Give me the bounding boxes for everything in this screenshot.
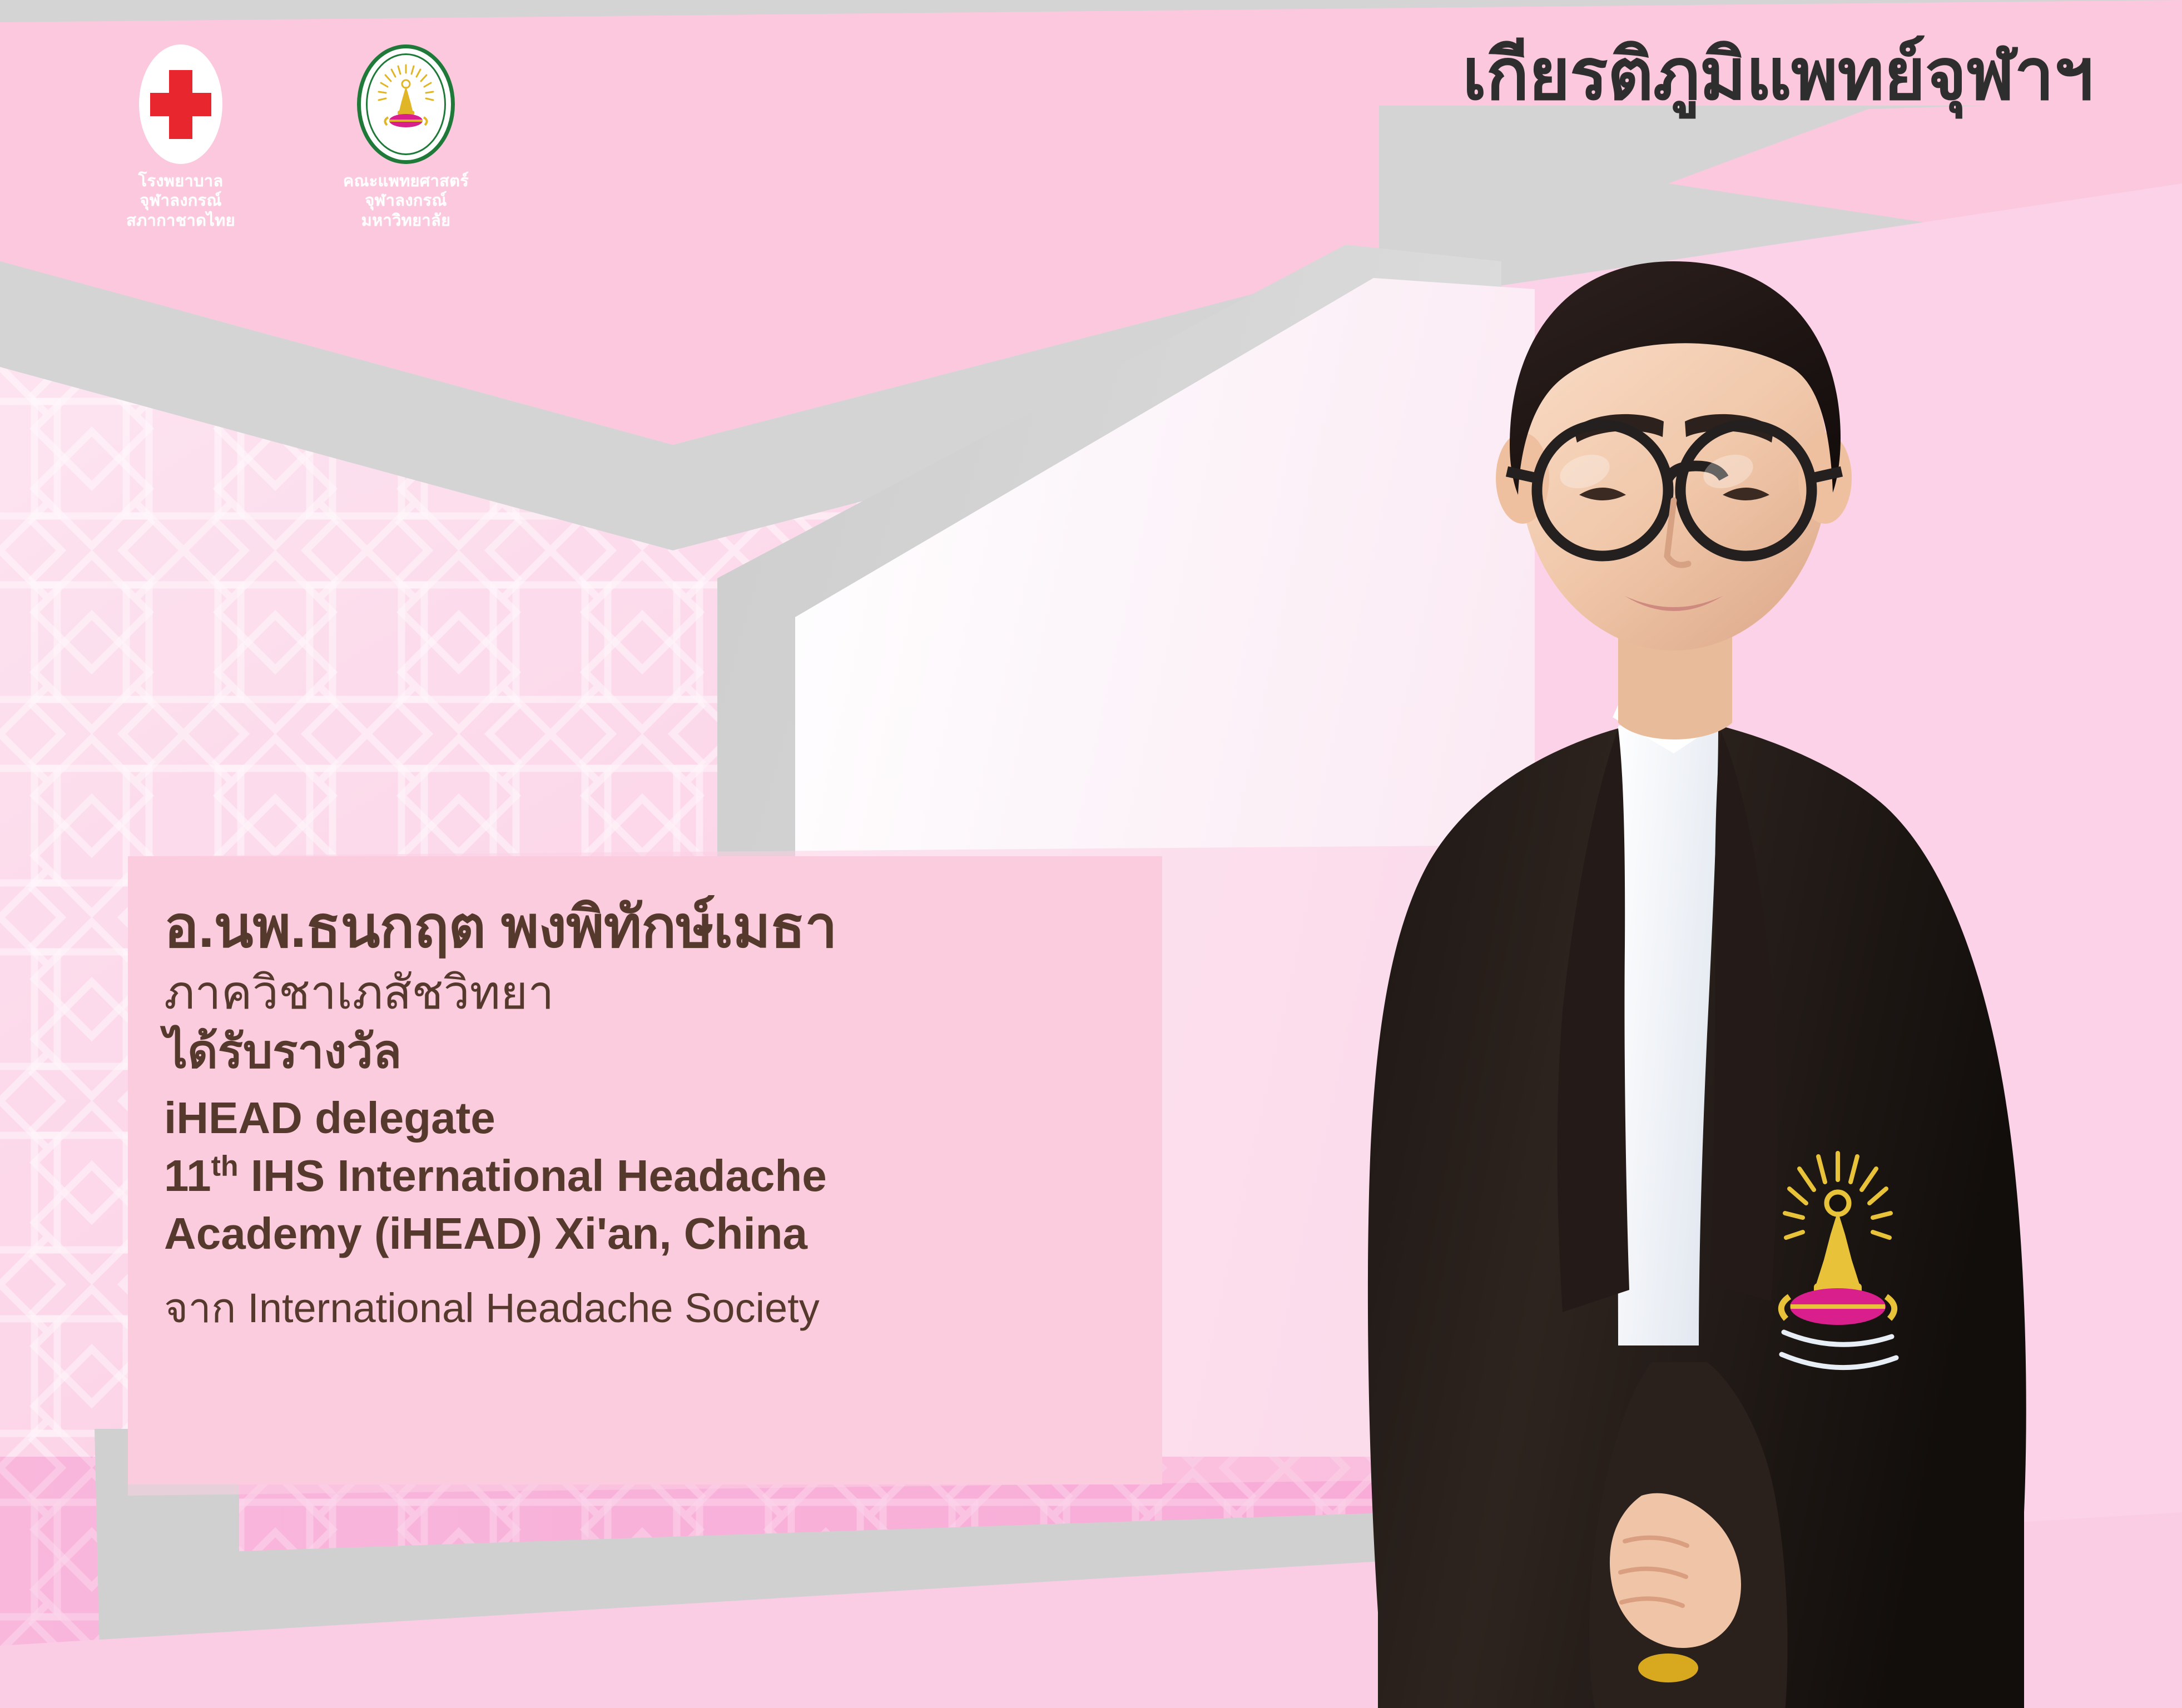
page-title: เกียรติภูมิแพทย์จุฬาฯ (1462, 18, 2093, 131)
recipient-name: อ.นพ.ธนกฤต พงพิทักษ์เมธา (164, 895, 1145, 960)
award-info-card: อ.นพ.ธนกฤต พงพิทักษ์เมธา ภาควิชาเภสัชวิท… (128, 856, 1162, 1484)
logo-row: โรงพยาบาลจุฬาลงกรณ์ สภากาชาดไทย (100, 44, 487, 231)
poster-root: โรงพยาบาลจุฬาลงกรณ์ สภากาชาดไทย (0, 0, 2182, 1708)
portrait-illustration (1229, 167, 2096, 1708)
seal-inner-emblem (373, 63, 439, 146)
award-line-2-rest: IHS International Headache (239, 1151, 827, 1200)
award-granting-organization: จาก International Headache Society (164, 1284, 1145, 1333)
logo-faculty-line1: คณะแพทยศาสตร์ (325, 172, 487, 191)
portrait-photo (1229, 167, 2096, 1708)
award-ordinal-number: 11 (164, 1151, 211, 1200)
wrist-watch (1638, 1654, 1698, 1682)
award-line-3: Academy (iHEAD) Xi'an, China (164, 1205, 1145, 1263)
logo-hospital-line1: โรงพยาบาลจุฬาลงกรณ์ (100, 172, 261, 211)
award-line-2: 11th IHS International Headache (164, 1147, 1145, 1205)
award-details: iHEAD delegate 11th IHS International He… (164, 1089, 1145, 1263)
award-line-1: iHEAD delegate (164, 1089, 1145, 1147)
logo-faculty-line2: จุฬาลงกรณ์มหาวิทยาลัย (325, 191, 487, 231)
award-ordinal-suffix: th (211, 1150, 239, 1182)
thai-red-cross-icon (139, 44, 222, 164)
received-label: ได้รับรางวัล (164, 1024, 1145, 1079)
recipient-department: ภาควิชาเภสัชวิทยา (164, 965, 1145, 1020)
logo-chula-faculty-medicine: คณะแพทยศาสตร์ จุฬาลงกรณ์มหาวิทยาลัย (325, 44, 487, 231)
chula-faculty-of-medicine-seal-icon (357, 44, 455, 164)
logo-hospital-line2: สภากาชาดไทย (100, 211, 261, 231)
logo-chulalongkorn-hospital: โรงพยาบาลจุฬาลงกรณ์ สภากาชาดไทย (100, 44, 261, 231)
